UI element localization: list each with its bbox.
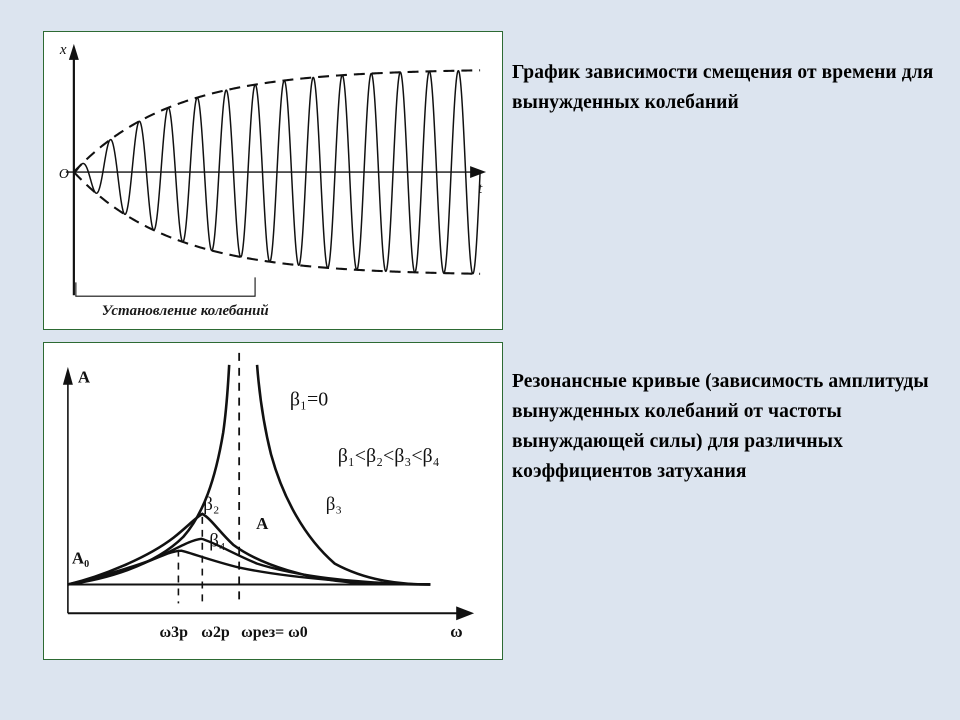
- annotation-beta1-zero: β₁=0: [290, 389, 328, 411]
- slide-canvas: x t O Установление колебаний График зави…: [0, 0, 960, 720]
- x-tick-label-omega-2r: ω2р: [201, 624, 230, 641]
- curve-beta1-right: [257, 365, 430, 585]
- y-axis-label: x: [59, 42, 67, 58]
- curve-label-beta4: β₄: [209, 531, 225, 552]
- buildup-annotation-line1: Установление колебаний: [102, 303, 269, 319]
- curve-label-beta2: β₂: [203, 494, 219, 515]
- x-tick-label-omega-rez: ωрез= ω0: [241, 624, 308, 641]
- transient-oscillation-chart: x t O Установление колебаний: [44, 32, 502, 329]
- annotation-beta-inequality: β₁<β₂<β₃<β₄: [338, 445, 440, 467]
- buildup-bracket: [76, 277, 255, 296]
- y-axis-label: A: [78, 368, 91, 387]
- transient-oscillation-panel: x t O Установление колебаний: [43, 31, 503, 330]
- y-axis: [63, 367, 73, 613]
- x-axis-label: ω: [450, 622, 462, 641]
- upper-envelope-curve: [74, 70, 480, 172]
- x-tick-label-omega-3r: ω3р: [159, 624, 188, 641]
- x-axis: [66, 166, 486, 178]
- curve-beta2: [68, 514, 430, 585]
- curve-beta1-left: [68, 365, 229, 585]
- resonance-curves-chart: A ω A₀ β₂ β₃ β₄ β₁=0 β₁<β₂<β₃<β₄: [44, 343, 502, 659]
- curve-label-beta3: β₃: [326, 494, 342, 515]
- origin-label: O: [59, 167, 69, 182]
- resonance-curves-panel: A ω A₀ β₂ β₃ β₄ β₁=0 β₁<β₂<β₃<β₄: [43, 342, 503, 660]
- y-intercept-label: A₀: [72, 549, 89, 568]
- x-axis: [68, 606, 474, 620]
- caption-resonance-chart: Резонансные кривые (зависимость амплитуд…: [512, 367, 950, 487]
- caption-transient-chart: График зависимости смещения от времени д…: [512, 58, 942, 118]
- annotation-amplitude-A: A: [256, 514, 269, 533]
